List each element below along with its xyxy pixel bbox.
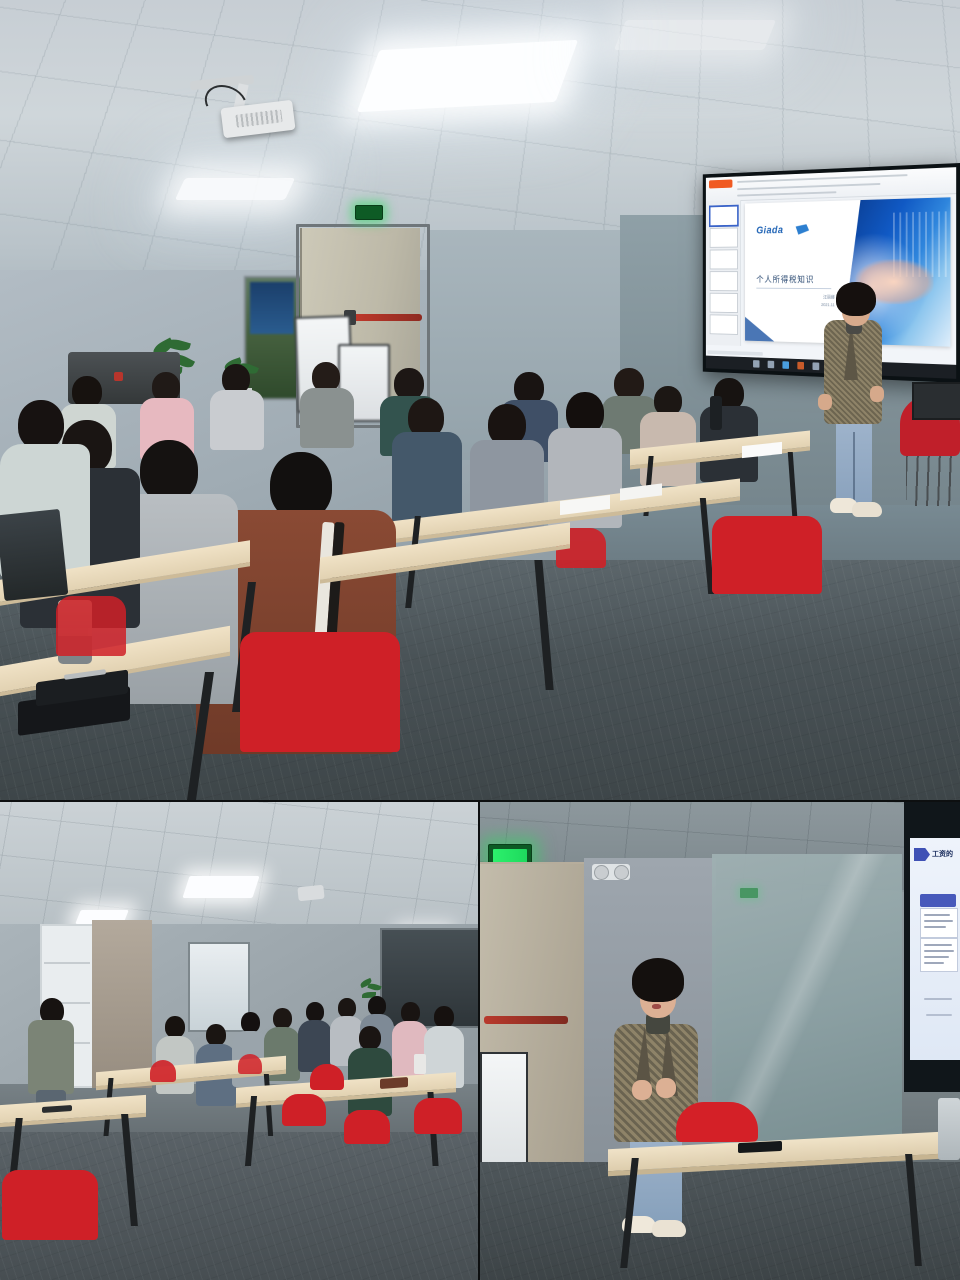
presenter — [608, 958, 702, 1218]
red-chair[interactable] — [240, 632, 400, 752]
projector — [297, 885, 324, 902]
slide-thumbnail[interactable] — [710, 227, 738, 247]
slide-heading: 工资的 — [932, 849, 953, 859]
red-chair[interactable] — [712, 516, 822, 594]
wall-partition — [92, 920, 152, 1088]
collage-panel-bottom-right: 工资的 — [480, 802, 960, 1280]
chair-legs — [906, 450, 954, 506]
red-chair-foreground[interactable] — [2, 1170, 98, 1240]
whiteboard — [480, 1052, 528, 1172]
thermos — [710, 396, 722, 430]
current-slide: 工资的 — [910, 838, 960, 1060]
red-chair[interactable] — [344, 1110, 390, 1144]
exit-sign — [355, 205, 383, 220]
attendee — [392, 398, 462, 526]
notebook — [380, 1077, 408, 1089]
slide-thumbnail[interactable] — [710, 293, 738, 313]
presenter-hand — [818, 394, 832, 410]
ppt-ribbon — [706, 167, 956, 202]
exit-sign-glyph — [493, 849, 527, 863]
ceiling-light — [357, 40, 578, 112]
ceiling-light — [182, 876, 259, 898]
attendee — [298, 1002, 332, 1070]
presenter-hand — [632, 1080, 652, 1100]
collage-panel-top: Giada 个人所得税知识 汪丽娜 2021.11 — [0, 0, 960, 800]
slide-corner-band — [745, 317, 774, 342]
presenter-shoe — [852, 502, 882, 517]
emergency-light — [592, 864, 630, 880]
anniversary-badge-icon — [796, 224, 809, 235]
slide-thumbnail[interactable] — [710, 249, 738, 269]
taskbar-icon[interactable] — [753, 360, 759, 368]
slide-table — [920, 938, 958, 972]
laptop-open — [0, 509, 68, 601]
red-chair[interactable] — [282, 1094, 326, 1126]
slide-thumbnail[interactable] — [710, 271, 738, 291]
ribbon-active-tab[interactable] — [709, 179, 732, 188]
ceiling-light — [614, 20, 776, 50]
collage-panel-bottom-left — [0, 802, 478, 1280]
jeans-seam — [853, 432, 855, 504]
slide-table-header — [920, 894, 956, 907]
red-chair[interactable] — [150, 1060, 176, 1082]
chevron-bullet-icon — [914, 848, 930, 861]
tumbler — [938, 1098, 960, 1160]
red-chair[interactable] — [310, 1064, 344, 1090]
photo-collage: Giada 个人所得税知识 汪丽娜 2021.11 — [0, 0, 960, 1280]
taskbar-icon[interactable] — [797, 362, 804, 370]
presenter — [818, 282, 884, 548]
slide-table — [920, 908, 958, 938]
red-chair[interactable] — [238, 1054, 262, 1074]
wall-poster — [250, 282, 294, 334]
presenter-hair — [836, 282, 876, 316]
paper-cup — [414, 1054, 426, 1074]
red-chair[interactable] — [676, 1102, 758, 1142]
red-chair[interactable] — [414, 1098, 462, 1134]
taskbar-icon[interactable] — [768, 361, 775, 369]
slide-thumbnail[interactable] — [710, 206, 738, 227]
exit-sign-reflection — [740, 888, 758, 898]
slide-thumbnail-pane[interactable] — [706, 200, 741, 346]
slide-thumbnail[interactable] — [710, 314, 738, 335]
door-push-bar[interactable] — [352, 314, 422, 321]
presenter-shoe — [652, 1220, 686, 1237]
attendee — [700, 378, 758, 478]
ceiling-light — [175, 178, 295, 200]
presenter-hand — [656, 1078, 676, 1098]
red-chair[interactable] — [56, 596, 126, 656]
attendee — [348, 1026, 392, 1114]
presenter-hair — [632, 958, 684, 1002]
slide-title: 个人所得税知识 — [756, 273, 814, 285]
attendee — [300, 362, 354, 444]
presenter-hand — [870, 386, 884, 402]
carpet-texture — [480, 1162, 960, 1280]
giada-logo: Giada — [756, 225, 783, 237]
door-push-bar[interactable] — [484, 1016, 568, 1024]
presenter-mouth — [652, 1004, 661, 1009]
laptop[interactable] — [912, 382, 960, 420]
attendee — [210, 364, 264, 446]
taskbar-icon[interactable] — [782, 361, 789, 369]
